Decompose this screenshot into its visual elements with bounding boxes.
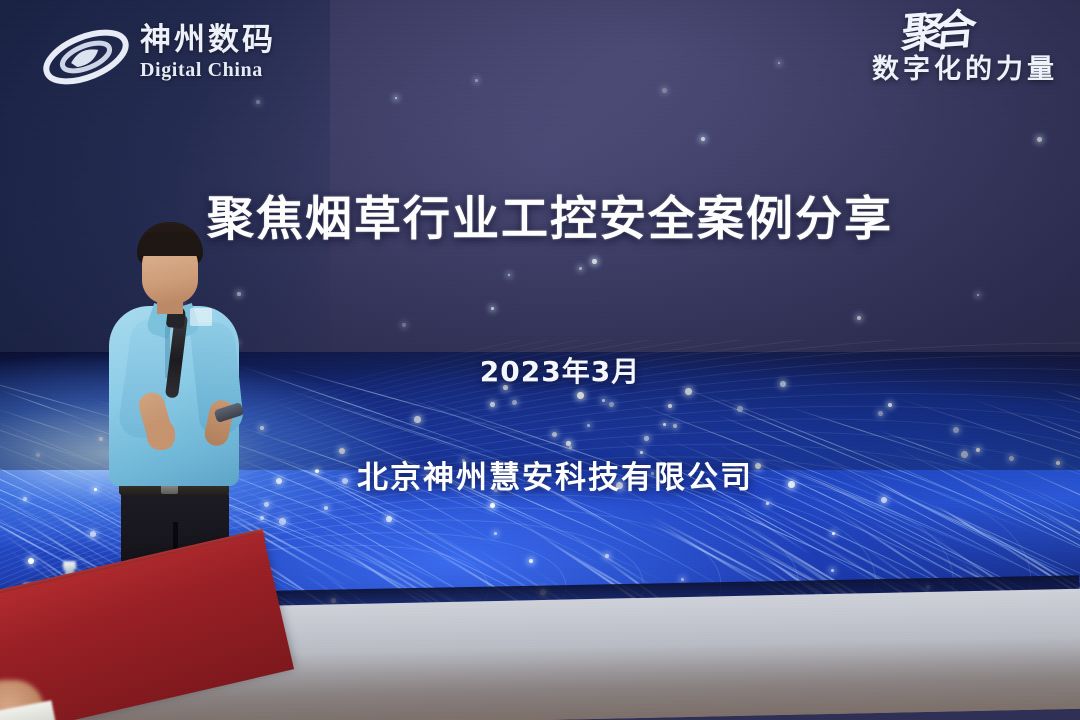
brand-english-name: Digital China <box>140 59 276 82</box>
digital-china-wordmark: 神州数码 Digital China <box>140 24 276 82</box>
conference-stage-photo: 神州数码 Digital China 聚合 数字化的力量 聚焦烟草行业工控安全案… <box>0 0 1080 720</box>
speaker-hair-front <box>138 232 202 256</box>
shirt-logo-icon <box>190 308 212 326</box>
swirl-galaxy-icon <box>40 22 132 92</box>
red-draped-table <box>0 533 294 720</box>
speaker-left-hand <box>147 420 175 450</box>
event-calligraphy: 聚合 <box>900 12 968 53</box>
brand-chinese-name: 神州数码 <box>140 24 276 57</box>
event-theme-logo: 聚合 数字化的力量 <box>788 14 1058 114</box>
digital-china-logo: 神州数码 Digital China <box>40 16 310 100</box>
foreground-table-area <box>0 560 290 720</box>
